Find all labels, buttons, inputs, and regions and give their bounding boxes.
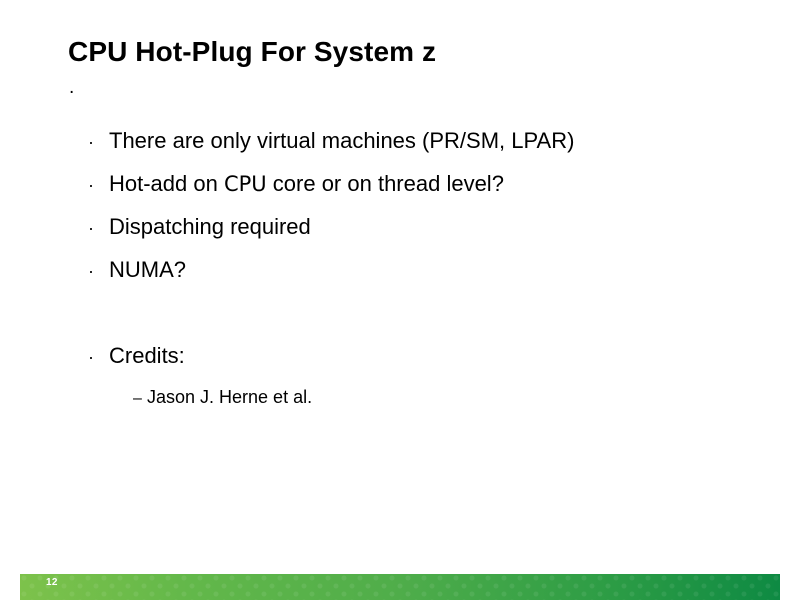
list-item: · Hot-add on CPU core or on thread level… [88,171,748,214]
bullet-dot-icon: · [88,260,109,282]
page-number: 12 [46,577,58,588]
sub-list-item-label: Jason J. Herne et al. [147,386,312,408]
list-item: · There are only virtual machines (PR/SM… [88,128,748,171]
bullet-dot-icon: · [88,346,109,368]
list-item-label: NUMA? [109,257,186,283]
sub-list-item: – Jason J. Herne et al. [133,386,748,422]
bullet-list: · There are only virtual machines (PR/SM… [88,128,748,422]
bullet-dot-icon: · [88,131,109,153]
presentation-slide: CPU Hot-Plug For System z . · There are … [0,0,800,600]
bullet-dot-icon: · [88,217,109,239]
list-spacer [88,300,748,343]
footer-bar: 12 [20,574,780,600]
list-item-label-post: core or on thread level? [267,171,504,196]
footer-texture-overlay [20,574,780,600]
list-item-label: Dispatching required [109,214,311,240]
list-item-label: There are only virtual machines (PR/SM, … [109,128,574,154]
bullet-dash-icon: – [133,389,147,409]
bullet-dot-icon: · [88,174,109,196]
list-item: · Credits: [88,343,748,386]
list-item-label-pre: Hot-add on [109,171,224,196]
page-title: CPU Hot-Plug For System z [68,36,436,68]
list-item: · Dispatching required [88,214,748,257]
list-item-label: Hot-add on CPU core or on thread level? [109,171,504,197]
stray-period-mark: . [69,78,74,97]
list-item-label-emphasis: CPU [224,172,267,196]
list-item-label: Credits: [109,343,185,369]
list-item: · NUMA? [88,257,748,300]
